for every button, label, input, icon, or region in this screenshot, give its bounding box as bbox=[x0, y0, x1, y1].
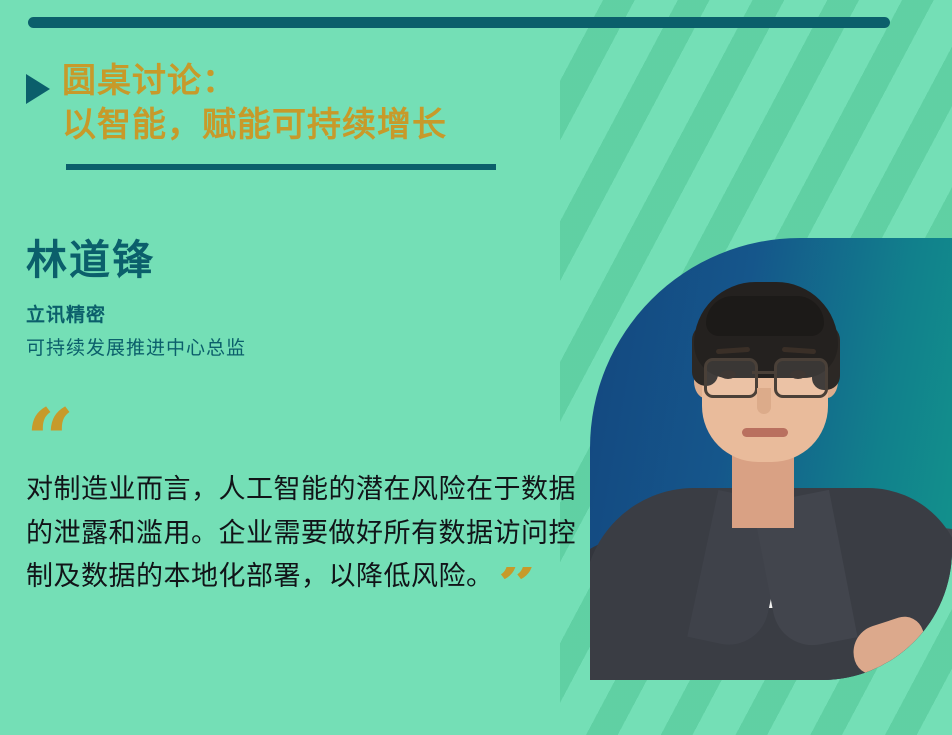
glasses-bridge-icon bbox=[752, 371, 774, 374]
session-title-underline bbox=[66, 164, 496, 170]
session-title-line-1: 圆桌讨论： bbox=[62, 60, 237, 104]
top-accent-bar bbox=[28, 17, 890, 28]
speaker-portrait-panel bbox=[590, 238, 952, 680]
quote-open-mark: “ bbox=[26, 398, 586, 444]
session-title-block: 圆桌讨论： 以智能，赋能可持续增长 bbox=[26, 60, 566, 170]
quote-text-body: 对制造业而言，人工智能的潜在风险在于数据的泄露和滥用。企业需要做好所有数据访问控… bbox=[26, 474, 576, 591]
portrait-mouth bbox=[742, 428, 788, 437]
glasses-lens-left-icon bbox=[704, 358, 758, 398]
glasses-lens-right-icon bbox=[774, 358, 828, 398]
quote-block: “ 对制造业而言，人工智能的潜在风险在于数据的泄露和滥用。企业需要做好所有数据访… bbox=[26, 398, 586, 607]
portrait-nose bbox=[757, 388, 771, 414]
speaker-company: 立讯精密 bbox=[26, 300, 546, 327]
speaker-quote-slide: 圆桌讨论： 以智能，赋能可持续增长 林道锋 立讯精密 可持续发展推进中心总监 “… bbox=[0, 0, 952, 735]
quote-text: 对制造业而言，人工智能的潜在风险在于数据的泄露和滥用。企业需要做好所有数据访问控… bbox=[26, 468, 586, 607]
speaker-identity-block: 林道锋 立讯精密 可持续发展推进中心总监 bbox=[26, 238, 546, 360]
speaker-role: 可持续发展推进中心总监 bbox=[26, 333, 546, 360]
session-title-row: 圆桌讨论： bbox=[26, 60, 566, 104]
play-triangle-icon bbox=[26, 74, 50, 104]
portrait-fringe bbox=[706, 296, 824, 336]
speaker-name: 林道锋 bbox=[26, 238, 546, 283]
speaker-photo bbox=[590, 238, 952, 680]
session-title-line-2: 以智能，赋能可持续增长 bbox=[62, 104, 566, 148]
quote-close-mark: ” bbox=[498, 567, 540, 607]
